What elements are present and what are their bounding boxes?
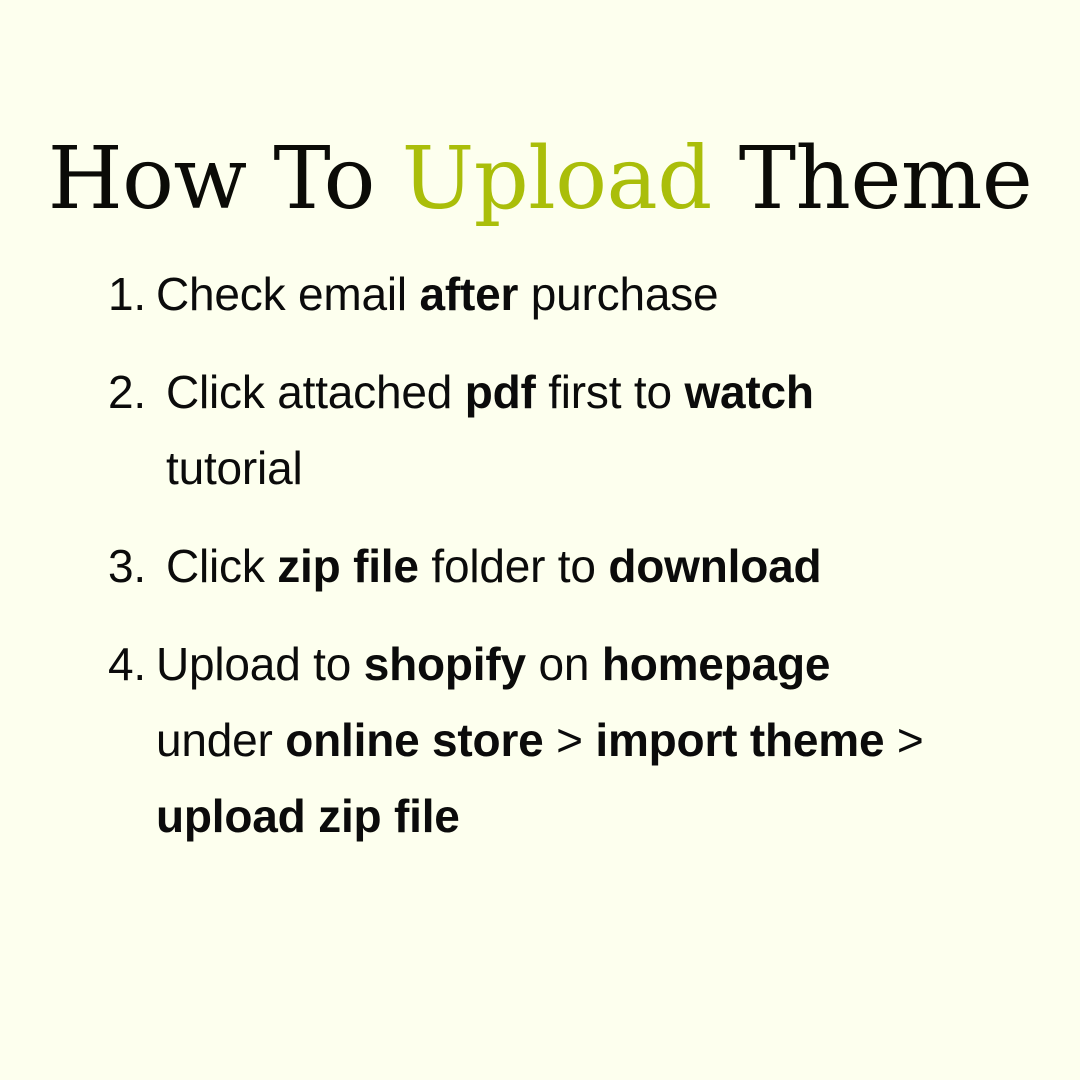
list-item-line: Click attached pdf first to watch [166,354,1056,430]
emphasis-text: import theme [595,714,884,766]
instruction-list: 1.Check email after purchase2.Click atta… [96,256,1056,854]
emphasis-text: after [419,268,518,320]
plain-text: on [526,638,602,690]
emphasis-text: online store [285,714,543,766]
page-title-accent-word: Upload [402,129,712,229]
list-item-marker: 4. [96,626,146,702]
list-item-line: upload zip file [156,778,1056,854]
list-item-text: Click zip file folder to download [166,528,1056,604]
plain-text: > [544,714,596,766]
page-title-part-2: Theme [712,129,1032,229]
emphasis-text: watch [684,366,813,418]
plain-text: under [156,714,285,766]
emphasis-text: download [608,540,821,592]
list-item-line: Check email after purchase [156,256,1056,332]
list-item: 3.Click zip file folder to download [96,528,1056,604]
plain-text: Check email [156,268,419,320]
list-item-marker: 2. [96,354,146,430]
page-title: How To Upload Theme [0,136,1080,222]
emphasis-text: pdf [465,366,536,418]
list-item: 2.Click attached pdf first to watchtutor… [96,354,1056,506]
plain-text: tutorial [166,442,302,494]
plain-text: Click [166,540,277,592]
plain-text: > [884,714,923,766]
title-block: How To Upload Theme [0,78,1080,279]
list-item-line: Click zip file folder to download [166,528,1056,604]
plain-text: Upload to [156,638,364,690]
list-item-line: under online store > import theme > [156,702,1056,778]
emphasis-text: upload zip file [156,790,460,842]
emphasis-text: homepage [602,638,830,690]
list-item-marker: 3. [96,528,146,604]
list-item-text: Click attached pdf first to watchtutoria… [166,354,1056,506]
plain-text: Click attached [166,366,465,418]
emphasis-text: zip file [277,540,419,592]
poster-canvas: How To Upload Theme 1.Check email after … [0,0,1080,1080]
plain-text: first to [536,366,685,418]
list-item-text: Upload to shopify on homepageunder onlin… [156,626,1056,854]
list-item-line: tutorial [166,430,1056,506]
plain-text: purchase [518,268,718,320]
page-title-part-1: How To [48,129,402,229]
list-item-marker: 1. [96,256,146,332]
emphasis-text: shopify [364,638,526,690]
list-item: 1.Check email after purchase [96,256,1056,332]
list-item-line: Upload to shopify on homepage [156,626,1056,702]
list-item: 4.Upload to shopify on homepageunder onl… [96,626,1056,854]
plain-text: folder to [419,540,609,592]
list-item-text: Check email after purchase [156,256,1056,332]
